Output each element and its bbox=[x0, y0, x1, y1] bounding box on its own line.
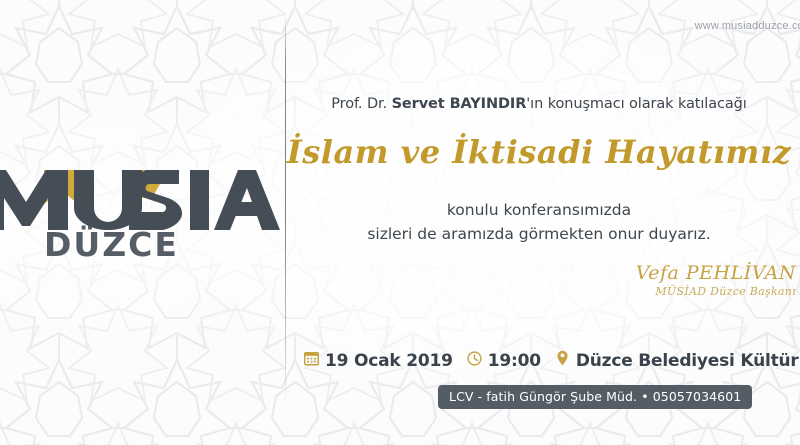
speaker-suffix: 'ın konuşmacı olarak katılacağı bbox=[526, 96, 746, 112]
event-venue-value: Düzce Belediyesi Kültür Merkez bbox=[576, 351, 800, 371]
event-venue: Düzce Belediyesi Kültür Merkez bbox=[555, 350, 800, 371]
signature-block: Vefa PEHLİVAN MÜSİAD Düzce Başkanı bbox=[636, 262, 796, 298]
musiad-logo: DÜZCE bbox=[0, 168, 282, 261]
website-url[interactable]: www.musiadduzce.co bbox=[695, 20, 800, 32]
logo-panel: DÜZCE bbox=[0, 0, 285, 445]
speaker-name: Servet BAYINDIR bbox=[392, 96, 527, 112]
event-date-value: 19 Ocak 2019 bbox=[325, 351, 453, 371]
body-line-1: konulu konferansımızda bbox=[286, 198, 792, 222]
calendar-icon bbox=[304, 351, 319, 371]
speaker-line: Prof. Dr. Servet BAYINDIR'ın konuşmacı o… bbox=[286, 96, 792, 112]
speaker-prefix: Prof. Dr. bbox=[331, 96, 391, 112]
event-time: 19:00 bbox=[467, 351, 541, 371]
event-details-bar: 19 Ocak 2019 19:00 Düz bbox=[304, 350, 800, 371]
lcv-contact-pill[interactable]: LCV - fatih Güngör Şube Müd. • 050570346… bbox=[438, 385, 752, 409]
invitation-body: konulu konferansımızda sizleri de aramız… bbox=[286, 198, 792, 246]
signature-name: Vefa PEHLİVAN bbox=[636, 262, 796, 284]
clock-icon bbox=[467, 351, 482, 371]
event-time-value: 19:00 bbox=[488, 351, 541, 371]
body-line-2: sizleri de aramızda görmekten onur duyar… bbox=[286, 222, 792, 246]
event-title: İslam ve İktisadi Hayatımız bbox=[286, 133, 792, 171]
logo-subtitle: DÜZCE bbox=[44, 228, 282, 261]
location-pin-icon bbox=[555, 350, 570, 371]
signature-role: MÜSİAD Düzce Başkanı bbox=[636, 285, 796, 298]
event-poster: DÜZCE www.musiadduzce.co Prof. Dr. Serve… bbox=[0, 0, 800, 445]
content-panel: www.musiadduzce.co Prof. Dr. Servet BAYI… bbox=[286, 0, 800, 445]
event-date: 19 Ocak 2019 bbox=[304, 351, 453, 371]
musiad-wordmark-icon bbox=[0, 168, 282, 232]
